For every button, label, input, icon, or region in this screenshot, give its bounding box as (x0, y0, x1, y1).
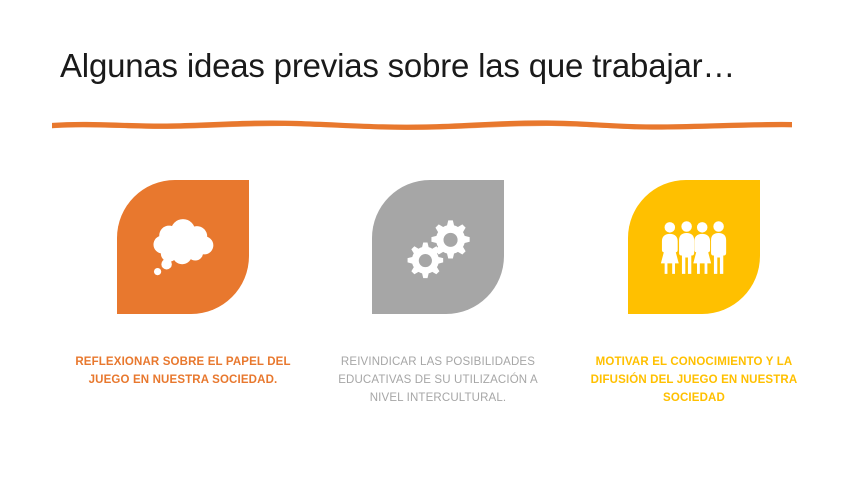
thought-bubble-icon (142, 206, 224, 288)
page-title: Algunas ideas previas sobre las que trab… (60, 46, 800, 86)
card-caption-reflexionar: REFLEXIONAR SOBRE EL PAPEL DEL JUEGO EN … (68, 353, 298, 389)
cards-row: REFLEXIONAR SOBRE EL PAPEL DEL JUEGO EN … (0, 180, 848, 407)
card-caption-motivar: MOTIVAR EL CONOCIMIENTO Y LA DIFUSIÓN DE… (579, 353, 809, 407)
card-shape-orange (117, 180, 249, 314)
gears-icon (397, 206, 479, 288)
card-motivar[interactable]: MOTIVAR EL CONOCIMIENTO Y LA DIFUSIÓN DE… (569, 180, 819, 407)
card-reivindicar[interactable]: REIVINDICAR LAS POSIBILIDADES EDUCATIVAS… (313, 180, 563, 407)
card-caption-reivindicar: REIVINDICAR LAS POSIBILIDADES EDUCATIVAS… (323, 353, 553, 407)
slide-canvas: Algunas ideas previas sobre las que trab… (0, 0, 848, 477)
card-shape-yellow (628, 180, 760, 314)
wavy-underline-divider (52, 114, 792, 136)
card-shape-gray (372, 180, 504, 314)
card-reflexionar[interactable]: REFLEXIONAR SOBRE EL PAPEL DEL JUEGO EN … (58, 180, 308, 407)
wavy-underline-icon (52, 114, 792, 136)
people-group-icon (653, 206, 735, 288)
